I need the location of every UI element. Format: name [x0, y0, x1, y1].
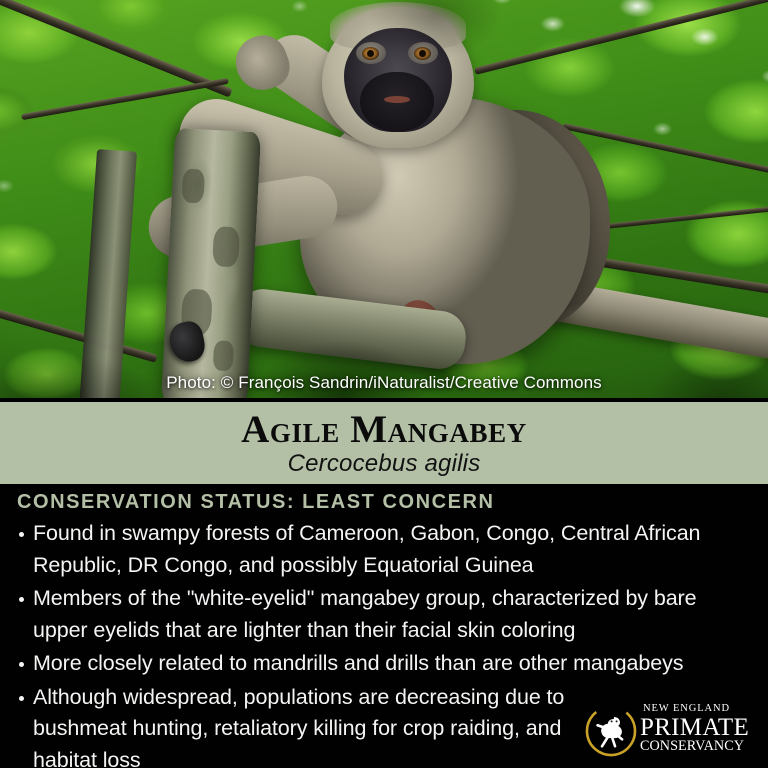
organization-logo[interactable]: NEW ENGLAND PRIMATE CONSERVANCY: [584, 702, 760, 760]
species-photo: Photo: © François Sandrin/iNaturalist/Cr…: [0, 0, 768, 398]
list-item: More closely related to mandrills and dr…: [0, 648, 768, 680]
photo-credit: Photo: © François Sandrin/iNaturalist/Cr…: [0, 373, 768, 393]
conservation-status: CONSERVATION STATUS: LEAST CONCERN: [17, 491, 495, 514]
species-info-card: Photo: © François Sandrin/iNaturalist/Cr…: [0, 0, 768, 768]
logo-line-new-england: NEW ENGLAND: [643, 704, 760, 715]
info-panel: CONSERVATION STATUS: LEAST CONCERN Found…: [0, 487, 768, 768]
logo-line-primate: PRIMATE: [640, 716, 760, 740]
list-item: Members of the "white-eyelid" mangabey g…: [0, 583, 768, 646]
list-item: Found in swampy forests of Cameroon, Gab…: [0, 518, 768, 581]
foliage-shadow: [0, 0, 768, 398]
title-band: Agile Mangabey Cercocebus agilis: [0, 402, 768, 484]
scientific-name: Cercocebus agilis: [288, 452, 481, 476]
logo-wordmark: NEW ENGLAND PRIMATE CONSERVANCY: [640, 704, 760, 753]
logo-line-conservancy: CONSERVANCY: [640, 739, 760, 753]
monkey-in-gold-circle-icon: [584, 704, 638, 758]
common-name: Agile Mangabey: [241, 410, 527, 449]
